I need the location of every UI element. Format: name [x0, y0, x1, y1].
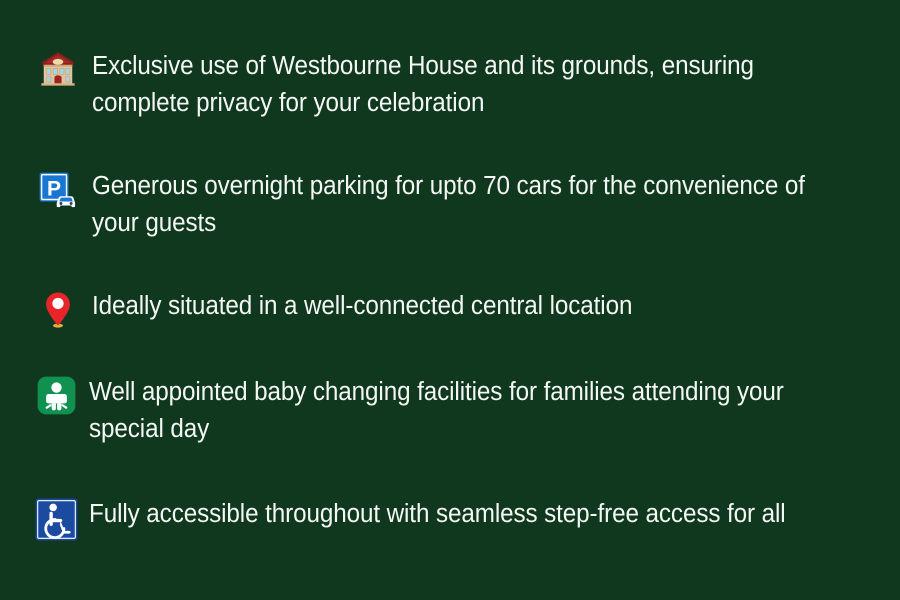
features-panel: Exclusive use of Westbourne House and it…: [0, 0, 900, 600]
map-pin-location-icon: [42, 290, 74, 330]
baby-changing-symbol-icon: [37, 376, 76, 415]
feature-icon-cell: [24, 288, 92, 330]
feature-item: Exclusive use of Westbourne House and it…: [24, 48, 876, 122]
feature-text: Ideally situated in a well-connected cen…: [92, 288, 632, 325]
feature-item: Well appointed baby changing facilities …: [24, 374, 876, 448]
feature-item: P Generous overnight parking for upto 70…: [24, 168, 876, 242]
feature-icon-cell: P: [24, 168, 92, 212]
feature-item: Ideally situated in a well-connected cen…: [24, 288, 876, 330]
feature-text: Generous overnight parking for upto 70 c…: [92, 168, 837, 242]
house-building-icon: [39, 50, 77, 88]
feature-text: Exclusive use of Westbourne House and it…: [92, 48, 837, 122]
feature-item: Fully accessible throughout with seamles…: [24, 496, 876, 541]
parking-car-icon: P: [37, 170, 79, 212]
feature-icon-cell: [24, 374, 89, 415]
feature-icon-cell: [24, 496, 89, 541]
feature-text: Fully accessible throughout with seamles…: [89, 496, 786, 533]
wheelchair-accessibility-icon: [35, 498, 78, 541]
feature-icon-cell: [24, 48, 92, 88]
feature-text: Well appointed baby changing facilities …: [89, 374, 837, 448]
